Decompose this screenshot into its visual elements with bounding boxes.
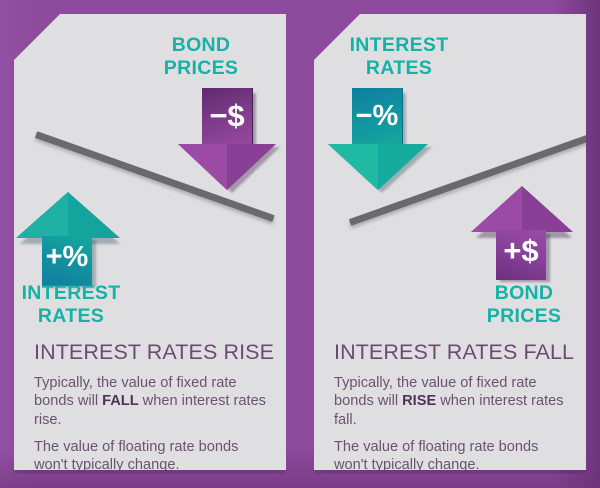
headline-rates-rise: INTEREST RATES RISE [34, 340, 274, 365]
arrow-glyph-minus-dollar: −$ [202, 98, 252, 134]
arrow-glyph-minus-percent: −% [352, 98, 402, 134]
panel-rates-rise: BOND PRICES −$ [14, 14, 286, 470]
label-bond-prices-bottom: BOND PRICES [459, 282, 589, 328]
arrow-bond-prices-down: −$ [186, 88, 282, 194]
panel-rates-fall: INTEREST RATES −% [314, 14, 586, 470]
arrow-glyph-plus-percent: +% [42, 240, 92, 274]
paragraph-emphasis: FALL [102, 393, 138, 409]
arrow-interest-rates-up: +% [18, 190, 122, 286]
arrow-bond-prices-up: +$ [474, 184, 574, 282]
label-interest-rates-bottom: INTEREST RATES [6, 282, 136, 328]
arrow-interest-rates-down: −% [332, 88, 436, 194]
arrow-head-highlight [471, 186, 522, 232]
arrow-head-highlight [178, 144, 227, 190]
arrow-glyph-plus-dollar: +$ [496, 234, 546, 268]
label-interest-rates-top: INTEREST RATES [334, 34, 464, 80]
label-bond-prices-top: BOND PRICES [136, 34, 266, 80]
paragraph-fixed-rate-bonds: Typically, the value of fixed rate bonds… [34, 374, 266, 429]
paragraph-floating-rate-bonds: The value of floating rate bonds won't t… [334, 438, 566, 475]
paragraph-fixed-rate-bonds: Typically, the value of fixed rate bonds… [334, 374, 566, 429]
paragraph-floating-rate-bonds: The value of floating rate bonds won't t… [34, 438, 266, 475]
paragraph-emphasis: RISE [402, 393, 436, 409]
arrow-head-highlight [328, 144, 378, 190]
arrow-head-highlight [16, 192, 68, 238]
infographic-canvas: BOND PRICES −$ [0, 0, 600, 488]
headline-rates-fall: INTEREST RATES FALL [334, 340, 574, 365]
